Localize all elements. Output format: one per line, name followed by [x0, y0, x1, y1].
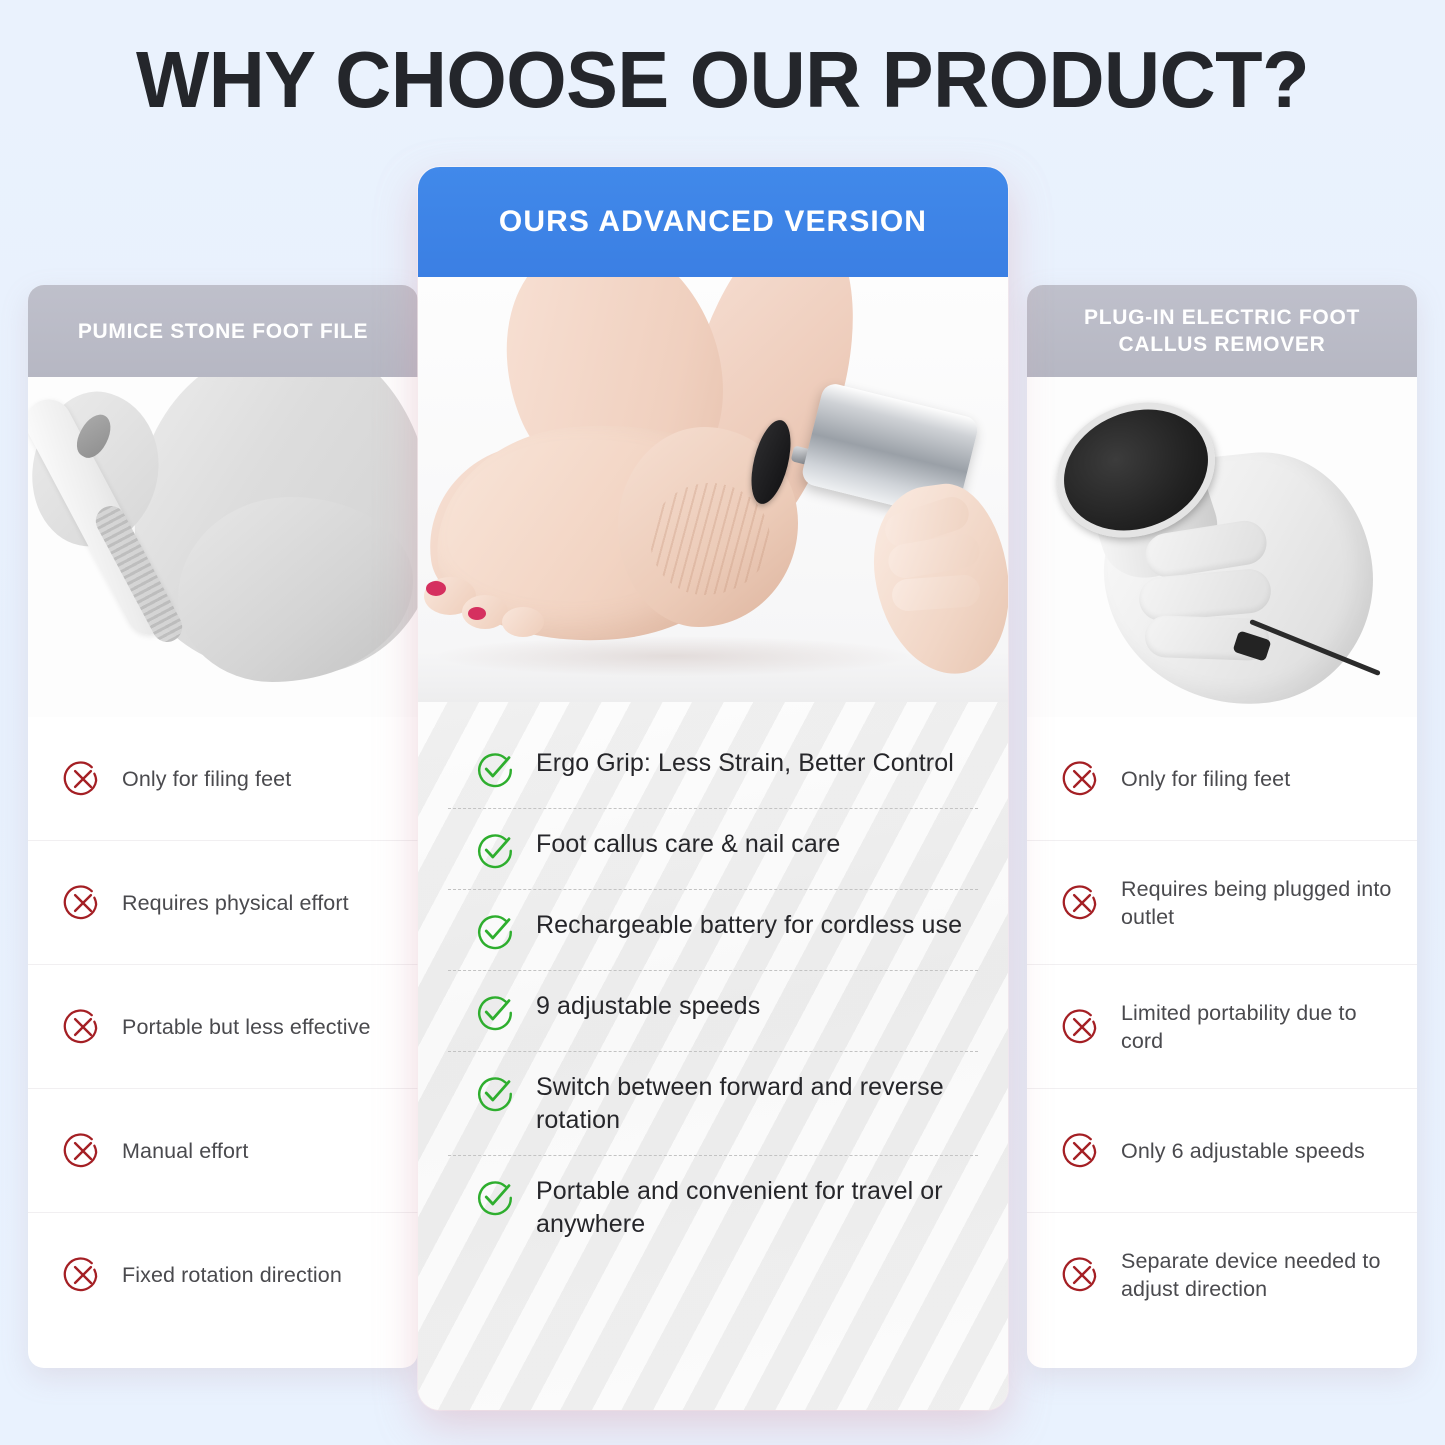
- list-item-label: Foot callus care & nail care: [536, 827, 840, 861]
- check-circle-icon: [474, 1176, 516, 1218]
- x-circle-icon: [1061, 882, 1103, 924]
- comparison-card-right: PLUG-IN ELECTRIC FOOT CALLUS REMOVER Onl…: [1027, 285, 1417, 1368]
- list-item-label: Ergo Grip: Less Strain, Better Control: [536, 746, 954, 780]
- x-circle-icon: [62, 1254, 104, 1296]
- x-circle-icon: [62, 882, 104, 924]
- feature-list-right: Only for filing feet Requires being plug…: [1027, 717, 1417, 1337]
- list-item: Only for filing feet: [1027, 717, 1417, 841]
- check-circle-icon: [474, 829, 516, 871]
- check-circle-icon: [474, 910, 516, 952]
- x-circle-icon: [62, 758, 104, 800]
- card-header-right-label: PLUG-IN ELECTRIC FOOT CALLUS REMOVER: [1053, 304, 1391, 358]
- list-item: Requires being plugged into outlet: [1027, 841, 1417, 965]
- list-item-label: Switch between forward and reverse rotat…: [536, 1070, 976, 1137]
- list-item: Portable and convenient for travel or an…: [448, 1156, 978, 1259]
- list-item-label: Fixed rotation direction: [122, 1261, 342, 1289]
- list-item: Portable but less effective: [28, 965, 418, 1089]
- check-circle-icon: [474, 748, 516, 790]
- list-item: Rechargeable battery for cordless use: [448, 890, 978, 971]
- comparison-card-left: PUMICE STONE FOOT FILE Only for filing f…: [28, 285, 418, 1368]
- list-item-label: Requires physical effort: [122, 889, 349, 917]
- list-item-label: Requires being plugged into outlet: [1121, 875, 1395, 931]
- x-circle-icon: [1061, 1006, 1103, 1048]
- card-header-left: PUMICE STONE FOOT FILE: [28, 285, 418, 377]
- list-item: Fixed rotation direction: [28, 1213, 418, 1337]
- list-item-label: 9 adjustable speeds: [536, 989, 760, 1023]
- list-item-label: Manual effort: [122, 1137, 248, 1165]
- check-circle-icon: [474, 1072, 516, 1114]
- list-item-label: Portable but less effective: [122, 1013, 371, 1041]
- page-title: WHY CHOOSE OUR PRODUCT?: [22, 34, 1424, 126]
- product-photo-ours-advanced-version: [418, 277, 1008, 702]
- list-item: Ergo Grip: Less Strain, Better Control: [448, 728, 978, 809]
- card-header-center-label: OURS ADVANCED VERSION: [499, 205, 927, 239]
- check-circle-icon: [474, 991, 516, 1033]
- list-item-label: Portable and convenient for travel or an…: [536, 1174, 976, 1241]
- card-header-center: OURS ADVANCED VERSION: [418, 167, 1008, 277]
- comparison-card-center: OURS ADVANCED VERSION: [418, 167, 1008, 1410]
- list-item-label: Only for filing feet: [122, 765, 291, 793]
- x-circle-icon: [62, 1006, 104, 1048]
- feature-list-center: Ergo Grip: Less Strain, Better Control F…: [448, 728, 978, 1259]
- card-header-left-label: PUMICE STONE FOOT FILE: [78, 318, 368, 345]
- infographic-page: WHY CHOOSE OUR PRODUCT? PUMICE STONE FOO…: [0, 0, 1445, 1445]
- list-item: Foot callus care & nail care: [448, 809, 978, 890]
- x-circle-icon: [1061, 1130, 1103, 1172]
- list-item-label: Separate device needed to adjust directi…: [1121, 1247, 1395, 1303]
- list-item-label: Rechargeable battery for cordless use: [536, 908, 962, 942]
- list-item: Switch between forward and reverse rotat…: [448, 1052, 978, 1156]
- x-circle-icon: [62, 1130, 104, 1172]
- list-item: 9 adjustable speeds: [448, 971, 978, 1052]
- list-item: Requires physical effort: [28, 841, 418, 965]
- list-item-label: Limited portability due to cord: [1121, 999, 1395, 1055]
- product-photo-plugin-electric-callus-remover: [1027, 377, 1417, 717]
- list-item: Limited portability due to cord: [1027, 965, 1417, 1089]
- feature-panel-center: Ergo Grip: Less Strain, Better Control F…: [418, 702, 1008, 1410]
- x-circle-icon: [1061, 758, 1103, 800]
- card-header-right: PLUG-IN ELECTRIC FOOT CALLUS REMOVER: [1027, 285, 1417, 377]
- list-item-label: Only for filing feet: [1121, 765, 1290, 793]
- list-item: Only for filing feet: [28, 717, 418, 841]
- list-item: Only 6 adjustable speeds: [1027, 1089, 1417, 1213]
- feature-list-left: Only for filing feet Requires physical e…: [28, 717, 418, 1337]
- list-item: Separate device needed to adjust directi…: [1027, 1213, 1417, 1337]
- list-item-label: Only 6 adjustable speeds: [1121, 1137, 1365, 1165]
- list-item: Manual effort: [28, 1089, 418, 1213]
- x-circle-icon: [1061, 1254, 1103, 1296]
- product-photo-pumice-stone-foot-file: [28, 377, 418, 717]
